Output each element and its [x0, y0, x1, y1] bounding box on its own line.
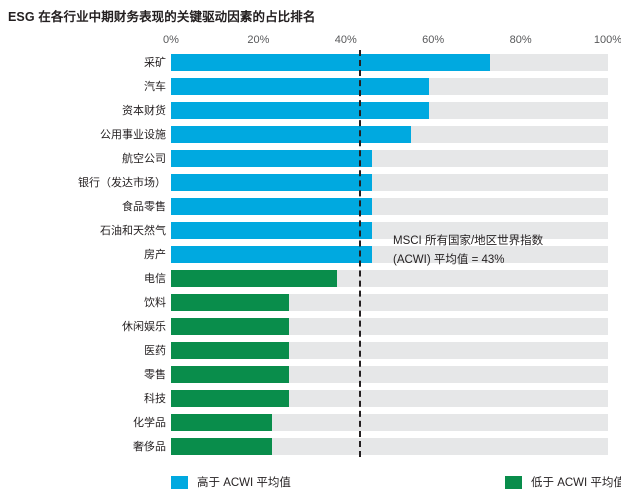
x-axis-tick-80: 80% [510, 34, 532, 46]
bar-category-label: 科技 [0, 392, 166, 406]
bar-row: 医药 [0, 342, 621, 366]
legend-label: 低于 ACWI 平均值 [531, 474, 621, 490]
bar-track [171, 414, 608, 431]
bar-row: 采矿 [0, 54, 621, 78]
bar-category-label: 零售 [0, 368, 166, 382]
bar-value [171, 318, 289, 335]
bar-value [171, 414, 272, 431]
bar-track [171, 270, 608, 287]
bar-value [171, 174, 372, 191]
bar-value [171, 102, 429, 119]
bar-row: 化学品 [0, 414, 621, 438]
bar-category-label: 食品零售 [0, 200, 166, 214]
bar-category-label: 汽车 [0, 80, 166, 94]
bar-value [171, 294, 289, 311]
bar-track [171, 366, 608, 383]
bar-category-label: 航空公司 [0, 152, 166, 166]
bar-track [171, 318, 608, 335]
bar-category-label: 房产 [0, 248, 166, 262]
bar-category-label: 公用事业设施 [0, 128, 166, 142]
bar-value [171, 150, 372, 167]
bar-row: 食品零售 [0, 198, 621, 222]
bar-track [171, 126, 608, 143]
bar-category-label: 休闲娱乐 [0, 320, 166, 334]
x-axis-tick-60: 60% [422, 34, 444, 46]
x-axis-tick-labels: 0%20%40%60%80%100% [0, 34, 621, 50]
bar-value [171, 198, 372, 215]
bar-category-label: 医药 [0, 344, 166, 358]
bar-track [171, 54, 608, 71]
bar-row: 汽车 [0, 78, 621, 102]
legend-item-below[interactable]: 低于 ACWI 平均值 [505, 474, 621, 490]
bar-track [171, 78, 608, 95]
bar-value [171, 270, 337, 287]
bar-category-label: 电信 [0, 272, 166, 286]
legend-swatch-icon [171, 476, 188, 489]
x-axis-tick-100: 100% [594, 34, 621, 46]
bar-category-label: 饮料 [0, 296, 166, 310]
bar-value [171, 126, 411, 143]
bar-row: 资本财货 [0, 102, 621, 126]
bar-category-label: 石油和天然气 [0, 224, 166, 238]
bar-value [171, 54, 490, 71]
bar-row: 航空公司 [0, 150, 621, 174]
bar-track [171, 150, 608, 167]
annotation-line-2: (ACWI) 平均值 = 43% [393, 251, 543, 270]
bar-category-label: 银行（发达市场） [0, 176, 166, 190]
bar-track [171, 174, 608, 191]
legend-swatch-icon [505, 476, 522, 489]
bar-row: 休闲娱乐 [0, 318, 621, 342]
bar-row: 零售 [0, 366, 621, 390]
legend-item-above[interactable]: 高于 ACWI 平均值 [171, 474, 291, 490]
bar-track [171, 294, 608, 311]
bar-value [171, 366, 289, 383]
x-axis-tick-0: 0% [163, 34, 179, 46]
bar-row: 电信 [0, 270, 621, 294]
chart-plot-area: 0%20%40%60%80%100% 采矿汽车资本财货公用事业设施航空公司银行（… [0, 0, 621, 499]
bar-track [171, 198, 608, 215]
bar-row: 饮料 [0, 294, 621, 318]
bar-category-label: 采矿 [0, 56, 166, 70]
bar-category-label: 资本财货 [0, 104, 166, 118]
bar-row: 银行（发达市场） [0, 174, 621, 198]
bar-track [171, 390, 608, 407]
legend-label: 高于 ACWI 平均值 [197, 474, 291, 490]
bar-row: 科技 [0, 390, 621, 414]
bar-value [171, 438, 272, 455]
x-axis-tick-20: 20% [247, 34, 269, 46]
bar-value [171, 342, 289, 359]
bar-value [171, 246, 372, 263]
annotation-line-1: MSCI 所有国家/地区世界指数 [393, 232, 543, 251]
bar-category-label: 奢侈品 [0, 440, 166, 454]
bar-row: 公用事业设施 [0, 126, 621, 150]
bar-value [171, 78, 429, 95]
bar-category-label: 化学品 [0, 416, 166, 430]
acwi-average-annotation: MSCI 所有国家/地区世界指数 (ACWI) 平均值 = 43% [393, 232, 543, 270]
bar-track [171, 102, 608, 119]
bar-value [171, 390, 289, 407]
acwi-average-reference-line [359, 50, 361, 457]
bar-track [171, 438, 608, 455]
bar-value [171, 222, 372, 239]
bar-track [171, 342, 608, 359]
bar-row: 奢侈品 [0, 438, 621, 462]
x-axis-tick-40: 40% [335, 34, 357, 46]
